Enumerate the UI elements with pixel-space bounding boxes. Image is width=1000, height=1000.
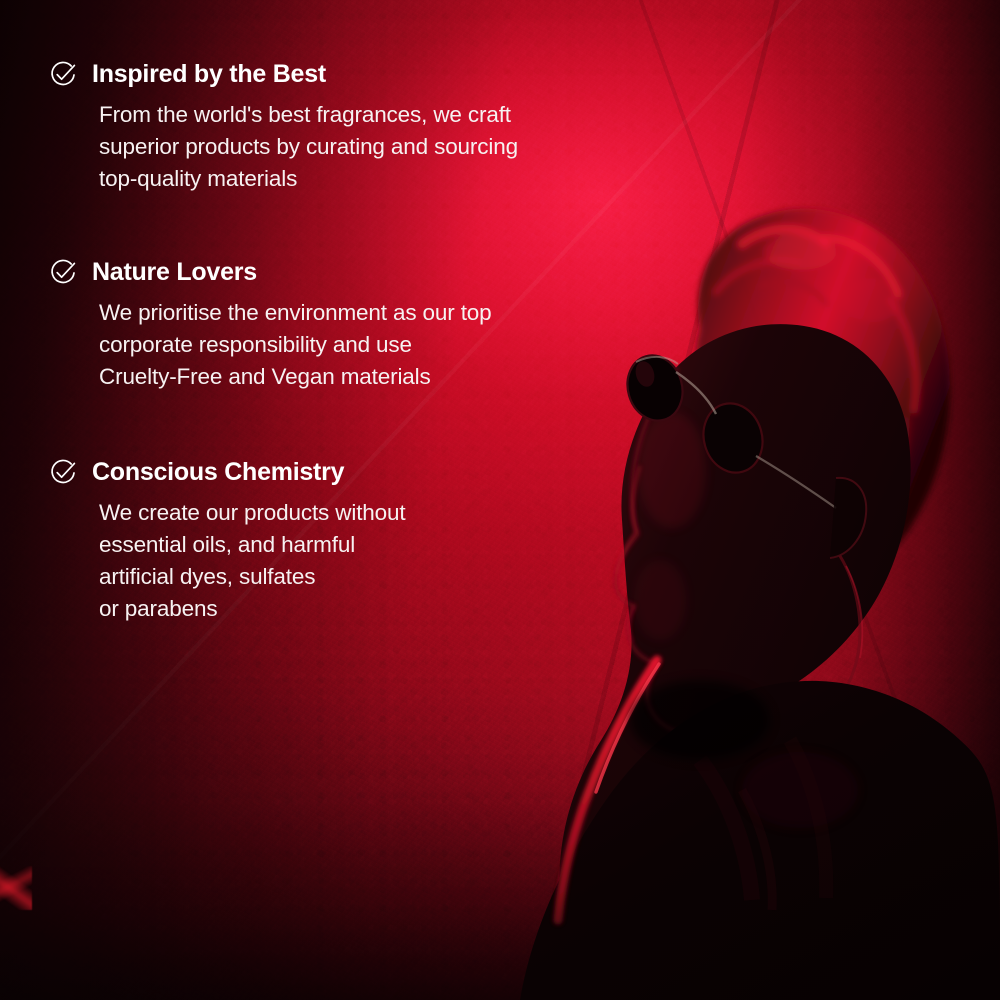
value-prop-body: We prioritise the environment as our top…: [48, 297, 492, 393]
body-line: superior products by curating and sourci…: [99, 131, 518, 163]
body-line: top-quality materials: [99, 163, 518, 195]
value-prop-body: We create our products without essential…: [48, 497, 406, 625]
body-line: We prioritise the environment as our top: [99, 297, 492, 329]
value-prop-title: Inspired by the Best: [92, 61, 326, 89]
check-circle-icon: [48, 60, 78, 90]
body-line: corporate responsibility and use: [99, 329, 492, 361]
lens-flare-streak: [0, 866, 32, 910]
check-circle-icon: [48, 458, 78, 488]
value-prop-heading-row: Inspired by the Best: [48, 60, 518, 90]
body-line: artificial dyes, sulfates: [99, 561, 406, 593]
check-circle-icon: [48, 258, 78, 288]
body-line: essential oils, and harmful: [99, 529, 406, 561]
body-line: Cruelty-Free and Vegan materials: [99, 361, 492, 393]
value-prop-item: Inspired by the Best From the world's be…: [48, 60, 518, 195]
value-prop-body: From the world's best fragrances, we cra…: [48, 99, 518, 195]
value-prop-item: Conscious Chemistry We create our produc…: [48, 458, 406, 625]
body-line: or parabens: [99, 593, 406, 625]
body-line: From the world's best fragrances, we cra…: [99, 99, 518, 131]
value-prop-heading-row: Conscious Chemistry: [48, 458, 406, 488]
body-line: We create our products without: [99, 497, 406, 529]
promo-banner: Inspired by the Best From the world's be…: [0, 0, 1000, 1000]
value-prop-heading-row: Nature Lovers: [48, 258, 492, 288]
value-prop-title: Nature Lovers: [92, 259, 257, 287]
value-prop-title: Conscious Chemistry: [92, 459, 344, 487]
value-prop-item: Nature Lovers We prioritise the environm…: [48, 258, 492, 393]
